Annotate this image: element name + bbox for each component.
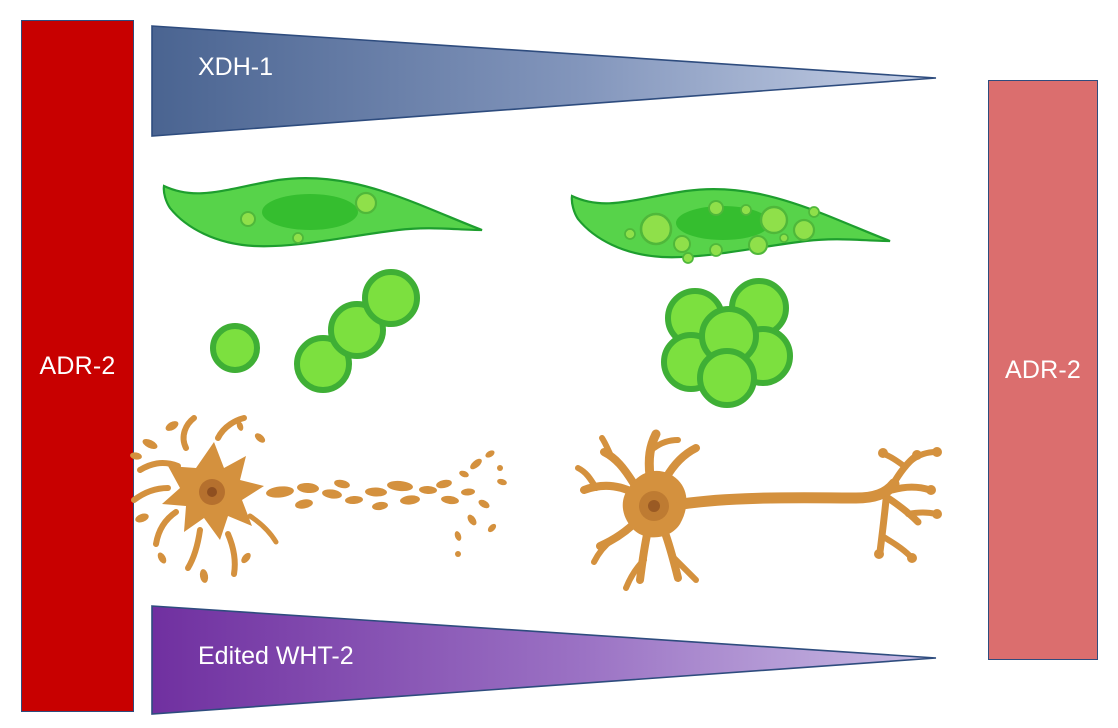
round-cells-right [655,278,825,398]
neuron-right-axon-terminals [880,452,936,556]
fibroblast-right-vesicle [749,236,767,254]
fibroblast-right-vesicle [780,234,788,242]
round-cell [365,272,417,324]
bar-adr2-right: ADR-2 [988,80,1098,660]
fibroblast-right-vesicle [710,244,722,256]
fibroblast-right-vesicle [683,253,693,263]
fibroblast-right-vesicle [741,205,751,215]
bar-adr2-left: ADR-2 [21,20,134,712]
fibroblast-left-vesicle [356,193,376,213]
gradient-triangle-xdh1: XDH-1 [150,22,940,138]
fibroblast-right-vesicle [761,207,787,233]
neuron-right-axon [682,484,894,504]
neuron-left-axon-fragments [266,478,476,511]
neuron-right-nucleolus [648,500,660,512]
gradient-triangle-edited-wht2-shape [152,606,936,714]
fibroblast-right-vesicle [794,220,814,240]
round-cells-left [205,272,445,392]
neuron-left-terminal-debris [453,449,507,557]
gradient-triangle-edited-wht2: Edited WHT-2 [150,604,940,718]
fibroblast-right-vesicle [674,236,690,252]
fibroblast-right-vesicle [641,214,671,244]
bar-adr2-left-label: ADR-2 [39,352,115,381]
neuron-right-intact [556,428,946,594]
fibroblast-left-nucleus [262,194,358,230]
fibroblast-left-vesicle [293,233,303,243]
neuron-left-degenerating [128,408,518,592]
fibroblast-left-vesicle [241,212,255,226]
fibroblast-right-vesicle [709,201,723,215]
fibroblast-right-vesicle [625,229,635,239]
figure-canvas: ADR-2 ADR-2 XDH-1 [0,0,1118,728]
neuron-left-nucleolus [207,487,217,497]
fibroblast-right-vesicle [809,207,819,217]
gradient-triangle-xdh1-shape [152,26,936,136]
round-cell [700,351,754,405]
cell-fibroblast-left [158,168,488,268]
cell-fibroblast-right [568,182,898,274]
bar-adr2-right-label: ADR-2 [1005,356,1081,385]
round-cell [213,326,257,370]
